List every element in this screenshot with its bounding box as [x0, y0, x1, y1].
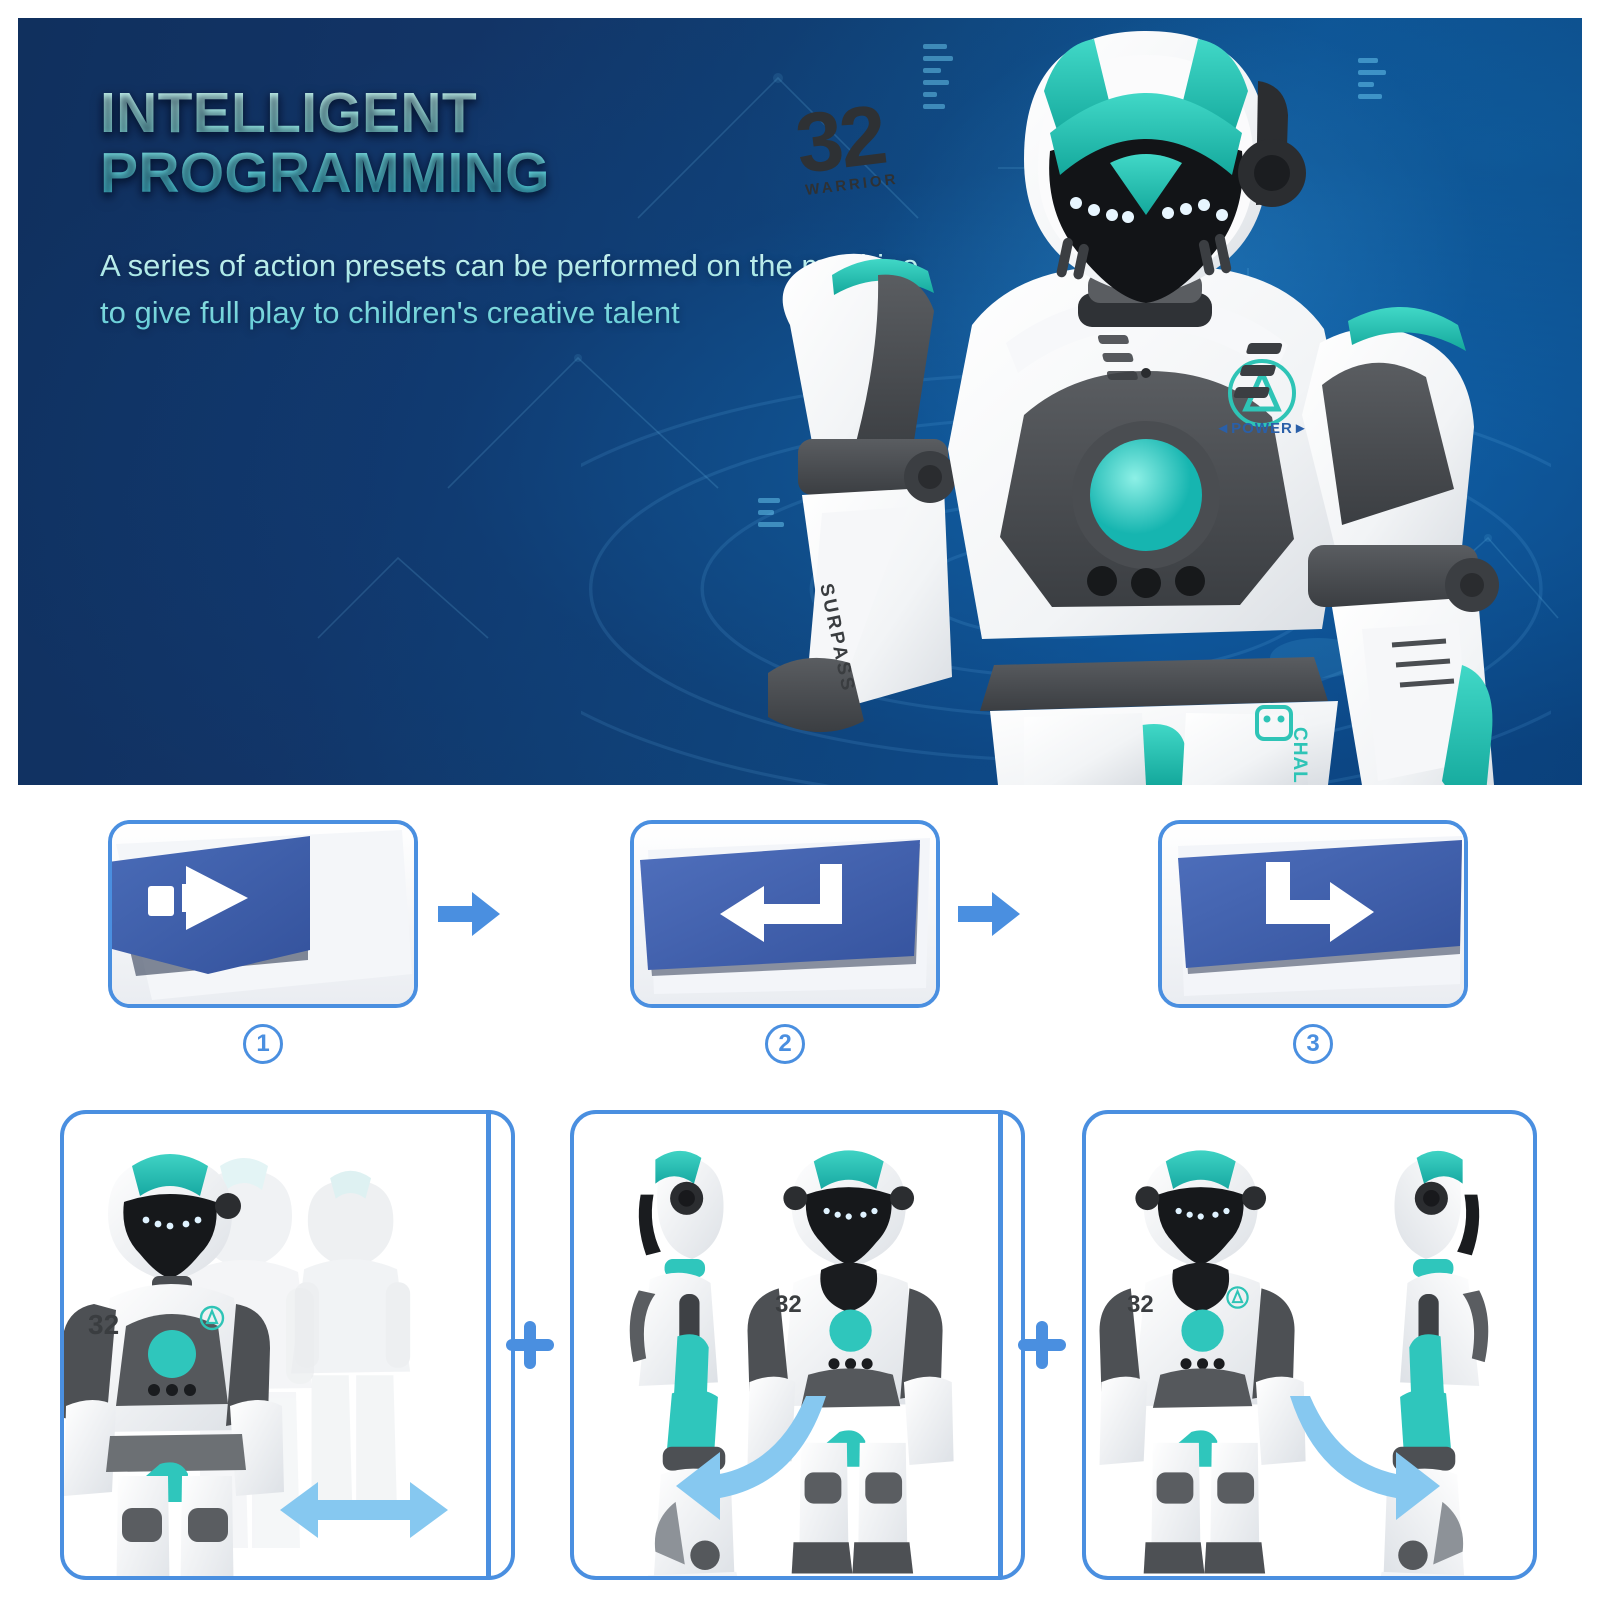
robots-walking-illustration: 32 — [64, 1114, 515, 1580]
svg-text:32: 32 — [1127, 1291, 1154, 1318]
svg-text:CHALLENGE: CHALLENGE — [1289, 727, 1310, 785]
step-2[interactable]: 2 — [630, 820, 940, 1064]
panel-walk-forward-backward[interactable]: 32 — [60, 1110, 515, 1580]
action-panels-row: 32 — [0, 1110, 1600, 1590]
svg-text:32: 32 — [88, 1309, 119, 1340]
robot-side-view — [630, 1151, 740, 1580]
step-3-key-photo[interactable] — [1158, 820, 1468, 1008]
robot-front-view: 32 — [1100, 1150, 1306, 1573]
hero-banner: INTELLIGENT PROGRAMMING A series of acti… — [18, 18, 1582, 785]
tab-forward-arrow-key-icon — [112, 824, 418, 1008]
panel-divider-right — [998, 1110, 1003, 1580]
robot-turn-right-illustration: 32 — [1086, 1114, 1537, 1580]
step-2-key-photo[interactable] — [630, 820, 940, 1008]
robot-side-view — [1378, 1151, 1488, 1580]
panel-separator-plus-1-icon — [500, 1315, 560, 1375]
panel-divider-left — [486, 1110, 491, 1580]
panel-turn-left[interactable]: 32 — [570, 1110, 1025, 1580]
panel-separator-plus-2-icon — [1012, 1315, 1072, 1375]
enter-return-arrow-key-icon — [634, 824, 940, 1008]
step-2-number: 2 — [765, 1024, 805, 1064]
program-steps-row: 1 2 — [0, 820, 1600, 1090]
step-connector-arrow-1-icon — [438, 890, 502, 938]
step-1-key-photo[interactable] — [108, 820, 418, 1008]
svg-text:◄POWER►: ◄POWER► — [1215, 420, 1308, 437]
panel-turn-right[interactable]: 32 — [1082, 1110, 1537, 1580]
robot-left-arm: 32 — [768, 153, 956, 732]
step-1[interactable]: 1 — [108, 820, 418, 1064]
robot-front-view: 32 — [748, 1150, 954, 1573]
robot-illustration: 32 32 WARRIOR SURPASS ◄POWER — [672, 25, 1552, 785]
step-3[interactable]: 3 — [1158, 820, 1468, 1064]
step-connector-arrow-2-icon — [958, 890, 1022, 938]
robot-turn-left-illustration: 32 — [574, 1114, 1025, 1580]
svg-text:32: 32 — [775, 1291, 802, 1318]
step-3-number: 3 — [1293, 1024, 1333, 1064]
robot-shoulder-badge: 32 WARRIOR — [791, 87, 900, 199]
step-1-number: 1 — [243, 1024, 283, 1064]
turn-right-arrow-key-icon — [1162, 824, 1468, 1008]
